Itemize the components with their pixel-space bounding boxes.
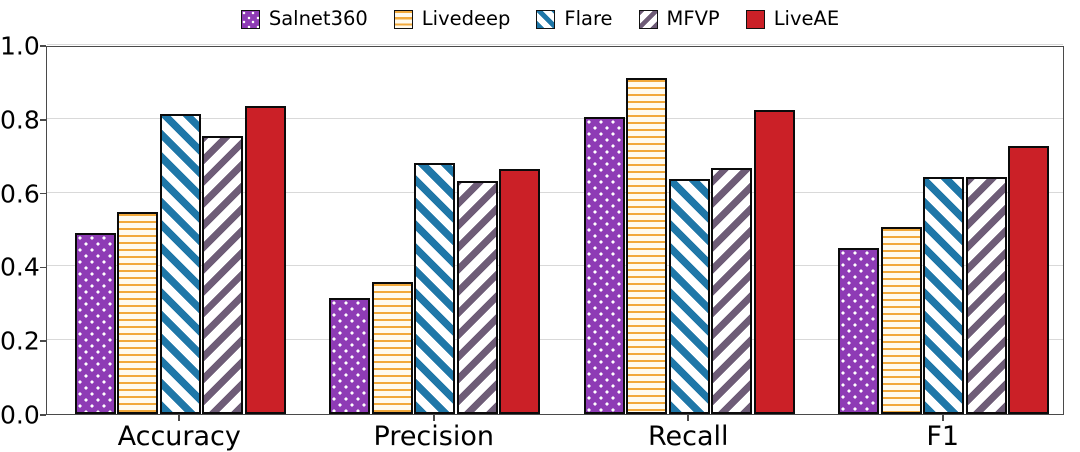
bar-series-container bbox=[47, 47, 1063, 414]
legend-label: Salnet360 bbox=[269, 9, 368, 29]
bar-mfvp-accuracy bbox=[202, 136, 243, 414]
bar-salnet360-f1 bbox=[838, 248, 879, 414]
y-tick-label: 0.2 bbox=[0, 327, 35, 356]
bar-liveae-precision bbox=[499, 169, 540, 414]
bar-salnet360-accuracy bbox=[75, 233, 116, 414]
y-tick-label: 0.6 bbox=[0, 179, 35, 208]
bar-liveae-recall bbox=[754, 110, 795, 414]
y-tick-mark bbox=[40, 414, 46, 416]
legend-label: Flare bbox=[564, 9, 612, 29]
bar-liveae-accuracy bbox=[245, 106, 286, 414]
bar-chart-figure: Salnet360LivedeepFlareMFVPLiveAE 0.00.20… bbox=[0, 0, 1080, 449]
x-tick-label-accuracy: Accuracy bbox=[118, 421, 241, 452]
bar-livedeep-recall bbox=[626, 78, 667, 414]
bar-mfvp-precision bbox=[457, 181, 498, 414]
x-tick-label-f1: F1 bbox=[926, 421, 959, 452]
y-tick-label: 0.4 bbox=[0, 253, 35, 282]
legend-swatch-icon bbox=[394, 10, 413, 29]
y-tick-mark bbox=[40, 119, 46, 121]
legend-item-livedeep[interactable]: Livedeep bbox=[394, 9, 511, 29]
legend-swatch-icon bbox=[241, 10, 260, 29]
legend-swatch-icon bbox=[746, 10, 765, 29]
y-tick-label: 1.0 bbox=[0, 32, 35, 61]
bar-flare-precision bbox=[414, 163, 455, 414]
bar-flare-f1 bbox=[923, 177, 964, 414]
legend-item-salnet360[interactable]: Salnet360 bbox=[241, 9, 368, 29]
bar-salnet360-precision bbox=[329, 298, 370, 414]
legend-label: Livedeep bbox=[422, 9, 511, 29]
legend-item-liveae[interactable]: LiveAE bbox=[746, 9, 839, 29]
y-tick-mark bbox=[40, 340, 46, 342]
bar-livedeep-accuracy bbox=[117, 212, 158, 414]
bar-flare-recall bbox=[669, 179, 710, 414]
bar-salnet360-recall bbox=[584, 117, 625, 414]
legend-item-mfvp[interactable]: MFVP bbox=[639, 9, 720, 29]
bar-flare-accuracy bbox=[160, 114, 201, 414]
legend-swatch-icon bbox=[536, 10, 555, 29]
plot-area bbox=[46, 46, 1064, 415]
bar-livedeep-precision bbox=[372, 282, 413, 414]
y-tick-label: 0.0 bbox=[0, 401, 35, 430]
bar-livedeep-f1 bbox=[881, 227, 922, 414]
legend-item-flare[interactable]: Flare bbox=[536, 9, 612, 29]
bar-mfvp-recall bbox=[711, 168, 752, 414]
legend-label: MFVP bbox=[667, 9, 720, 29]
chart-legend: Salnet360LivedeepFlareMFVPLiveAE bbox=[0, 4, 1080, 34]
y-tick-label: 0.8 bbox=[0, 105, 35, 134]
legend-swatch-icon bbox=[639, 10, 658, 29]
bar-liveae-f1 bbox=[1008, 146, 1049, 414]
x-tick-label-recall: Recall bbox=[648, 421, 729, 452]
y-tick-mark bbox=[40, 267, 46, 269]
legend-label: LiveAE bbox=[774, 9, 839, 29]
bar-mfvp-f1 bbox=[966, 177, 1007, 414]
x-tick-label-precision: Precision bbox=[374, 421, 494, 452]
y-tick-mark bbox=[40, 45, 46, 47]
gridline bbox=[47, 44, 1063, 45]
y-tick-mark bbox=[40, 193, 46, 195]
